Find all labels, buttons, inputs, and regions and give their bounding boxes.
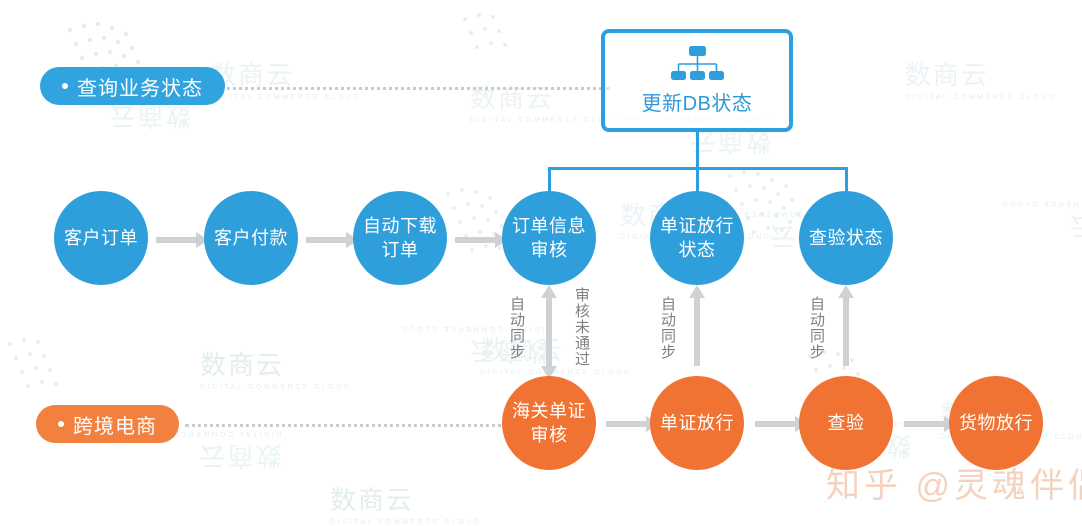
node-auto-download-order[interactable]: 自动下载 订单 [353, 191, 447, 285]
line-1: 自动下载 [363, 216, 437, 236]
arrow-inspection-to-goods [904, 421, 946, 427]
node-inspection-status[interactable]: 查验状态 [799, 191, 893, 285]
node-customer-order[interactable]: 客户订单 [54, 191, 148, 285]
arrow-review-failed [546, 308, 552, 368]
lane-pill-query-status[interactable]: 查询业务状态 [40, 67, 225, 105]
node-goods-release-label: 货物放行 [959, 411, 1033, 435]
label-auto-sync-1: 自动同步 [508, 296, 524, 360]
arrow-order-to-payment [156, 237, 198, 243]
line-2: 状态 [679, 240, 716, 260]
line-2: 订单 [382, 240, 419, 260]
rail-cross-border [185, 424, 515, 427]
arrow-auto-sync-2 [694, 296, 700, 366]
label-auto-sync-3: 自动同步 [808, 296, 824, 360]
node-doc-release-label: 单证放行 [660, 411, 734, 435]
rail-query-status [190, 87, 610, 90]
node-auto-download-order-label: 自动下载 订单 [363, 214, 437, 262]
lane-pill-cross-border[interactable]: 跨境电商 [36, 405, 179, 443]
node-order-info-review-label: 订单信息 审核 [512, 214, 586, 262]
hierarchy-icon [666, 45, 728, 85]
line-1: 单证放行 [660, 216, 734, 236]
line-2: 审核 [531, 240, 568, 260]
line-2: 审核 [531, 425, 568, 445]
node-inspection-label: 查验 [828, 411, 865, 435]
tree-trunk [696, 131, 699, 169]
node-customs-doc-review-label: 海关单证 审核 [512, 399, 586, 447]
node-customer-order-label: 客户订单 [64, 226, 138, 250]
line-1: 海关单证 [512, 401, 586, 421]
node-customer-payment[interactable]: 客户付款 [204, 191, 298, 285]
node-goods-release[interactable]: 货物放行 [949, 376, 1043, 470]
arrow-auto-sync-3 [843, 296, 849, 366]
arrow-download-to-review [455, 237, 497, 243]
update-db-status-label: 更新DB状态 [642, 87, 753, 116]
diagram-canvas: 数商云 DIGITAL COMMERCE CLOUD 数商云 DIGITAL C… [0, 0, 1082, 526]
node-doc-release[interactable]: 单证放行 [650, 376, 744, 470]
arrow-payment-to-download [306, 237, 348, 243]
bullet-icon [62, 83, 68, 89]
node-customs-doc-review[interactable]: 海关单证 审核 [502, 376, 596, 470]
arrow-release-to-inspection [755, 421, 797, 427]
line-1: 订单信息 [512, 216, 586, 236]
node-customer-payment-label: 客户付款 [214, 226, 288, 250]
node-inspection-status-label: 查验状态 [809, 226, 883, 250]
node-doc-release-status[interactable]: 单证放行 状态 [650, 191, 744, 285]
node-inspection[interactable]: 查验 [799, 376, 893, 470]
bullet-icon [58, 421, 64, 427]
node-doc-release-status-label: 单证放行 状态 [660, 214, 734, 262]
update-db-status-box[interactable]: 更新DB状态 [601, 29, 793, 132]
label-auto-sync-2: 自动同步 [659, 296, 675, 360]
lane-pill-cross-border-label: 跨境电商 [73, 410, 157, 439]
node-order-info-review[interactable]: 订单信息 审核 [502, 191, 596, 285]
arrow-customs-to-release [606, 421, 648, 427]
lane-pill-query-status-label: 查询业务状态 [77, 72, 203, 101]
label-review-failed: 审核未通过 [573, 287, 589, 367]
